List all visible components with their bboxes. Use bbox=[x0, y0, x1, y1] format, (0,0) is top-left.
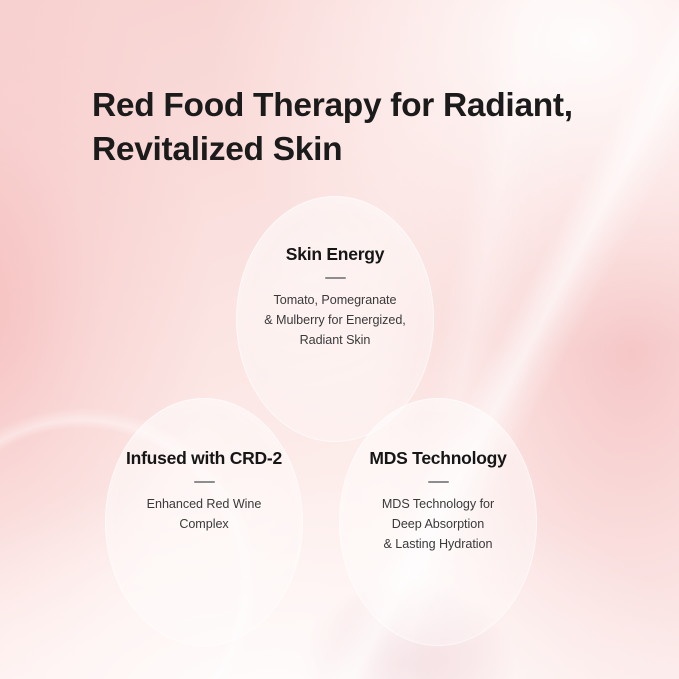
feature-circle-mds-technology: MDS Technology MDS Technology for Deep A… bbox=[339, 398, 537, 646]
feature-description-mds-technology: MDS Technology for Deep Absorption & Las… bbox=[382, 494, 494, 555]
divider-skin-energy bbox=[325, 277, 346, 279]
product-feature-poster: Red Food Therapy for Radiant, Revitalize… bbox=[0, 0, 679, 679]
feature-description-crd-2: Enhanced Red Wine Complex bbox=[147, 494, 262, 535]
divider-mds-technology bbox=[428, 481, 449, 483]
page-title: Red Food Therapy for Radiant, Revitalize… bbox=[0, 84, 679, 171]
feature-title-mds-technology: MDS Technology bbox=[369, 448, 506, 469]
feature-title-crd-2: Infused with CRD-2 bbox=[126, 448, 282, 469]
feature-title-skin-energy: Skin Energy bbox=[286, 244, 384, 265]
feature-circle-crd-2: Infused with CRD-2 Enhanced Red Wine Com… bbox=[105, 398, 303, 646]
feature-description-skin-energy: Tomato, Pomegranate & Mulberry for Energ… bbox=[264, 290, 406, 351]
divider-crd-2 bbox=[194, 481, 215, 483]
